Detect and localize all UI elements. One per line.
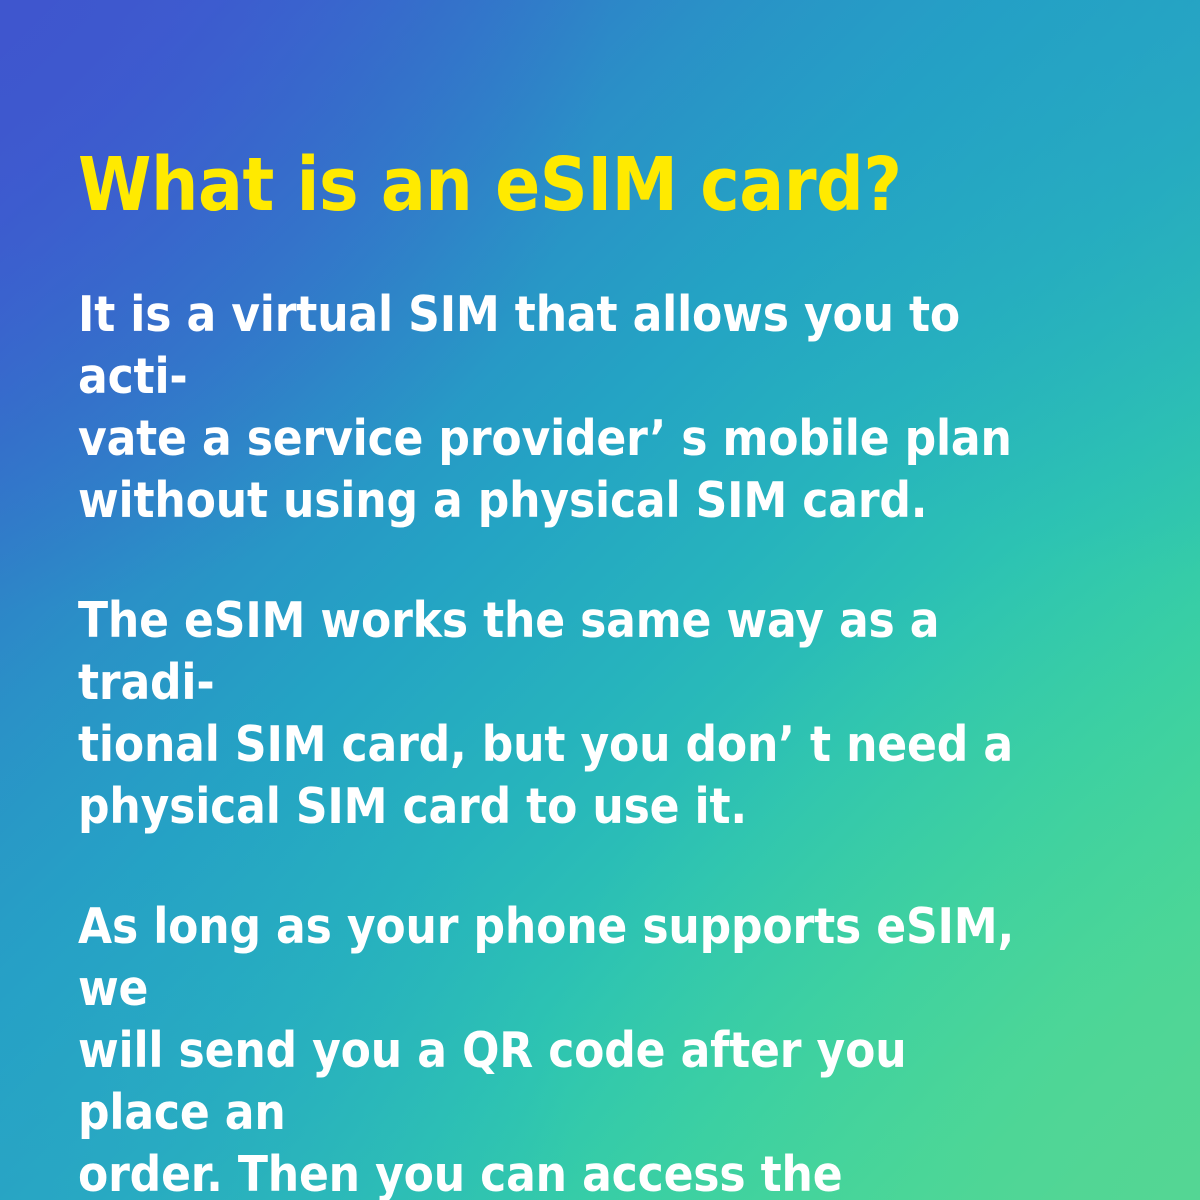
paragraph-delivery: As long as your phone supports eSIM, we … [78,896,1025,1200]
page-title: What is an eSIM card? [78,0,1025,222]
esim-info-card: What is an eSIM card? It is a virtual SI… [0,0,1200,1200]
body-copy: It is a virtual SIM that allows you to a… [78,284,1130,1200]
card-content: What is an eSIM card? It is a virtual SI… [0,0,1200,1200]
paragraph-comparison: The eSIM works the same way as a tradi- … [78,590,1025,838]
paragraph-definition: It is a virtual SIM that allows you to a… [78,284,1025,532]
